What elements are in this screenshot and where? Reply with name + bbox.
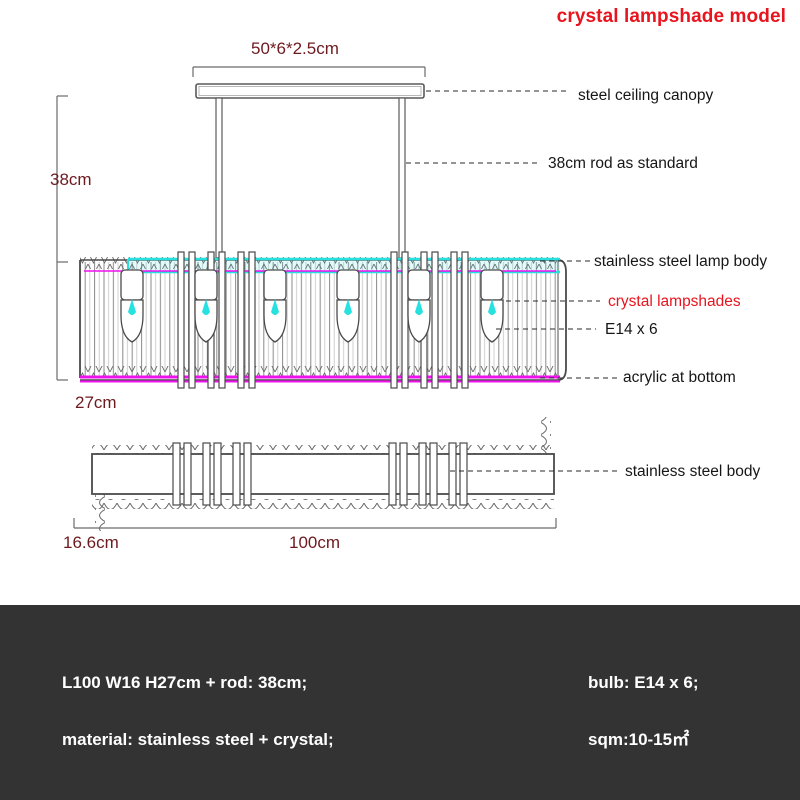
spec-bulb: bulb: E14 x 6; — [588, 670, 699, 696]
dimension-line-length — [74, 518, 556, 528]
spec-sqm: sqm:10-15㎡ — [588, 727, 689, 753]
lamp-body-plan-view — [92, 417, 554, 531]
callout-stainless-steel-lamp-body: stainless steel lamp body — [594, 254, 767, 270]
callout-crystal-lampshades: crystal lampshades — [608, 294, 741, 310]
dimension-label-drop-height: 38cm — [50, 171, 92, 188]
callout-acrylic-at-bottom: acrylic at bottom — [623, 370, 736, 386]
callout-bulb-spec: E14 x 6 — [605, 322, 658, 338]
dimension-label-canopy-size: 50*6*2.5cm — [251, 40, 339, 57]
ceiling-canopy — [196, 84, 424, 98]
dimension-label-body-length: 100cm — [289, 534, 340, 551]
callout-steel-ceiling-canopy: steel ceiling canopy — [578, 88, 713, 104]
diagram-canvas: crystal lampshade model — [0, 0, 800, 800]
acrylic-bottom-plate — [80, 377, 560, 382]
suspension-rods — [216, 98, 405, 258]
dimension-line-body-height — [57, 262, 68, 380]
lamp-body-front-view — [80, 252, 566, 388]
dimension-line-canopy — [193, 67, 425, 77]
bulb — [481, 270, 503, 342]
spec-row-1: L100 W16 H27cm + rod: 38cm; bulb: E14 x … — [0, 670, 800, 696]
bulb — [195, 270, 217, 342]
callout-stainless-steel-body: stainless steel body — [625, 464, 760, 480]
spec-material: material: stainless steel + crystal; — [62, 727, 334, 753]
callout-rod-standard: 38cm rod as standard — [548, 156, 698, 172]
dimension-label-body-width: 16.6cm — [63, 534, 119, 551]
spec-size: L100 W16 H27cm + rod: 38cm; — [62, 670, 307, 696]
bulb — [408, 270, 430, 342]
spec-banner: L100 W16 H27cm + rod: 38cm; bulb: E14 x … — [0, 605, 800, 800]
dimension-label-body-height: 27cm — [75, 394, 117, 411]
spec-row-2: material: stainless steel + crystal; sqm… — [0, 727, 800, 753]
bulb — [337, 270, 359, 342]
bulb — [264, 270, 286, 342]
bulb — [121, 270, 143, 342]
